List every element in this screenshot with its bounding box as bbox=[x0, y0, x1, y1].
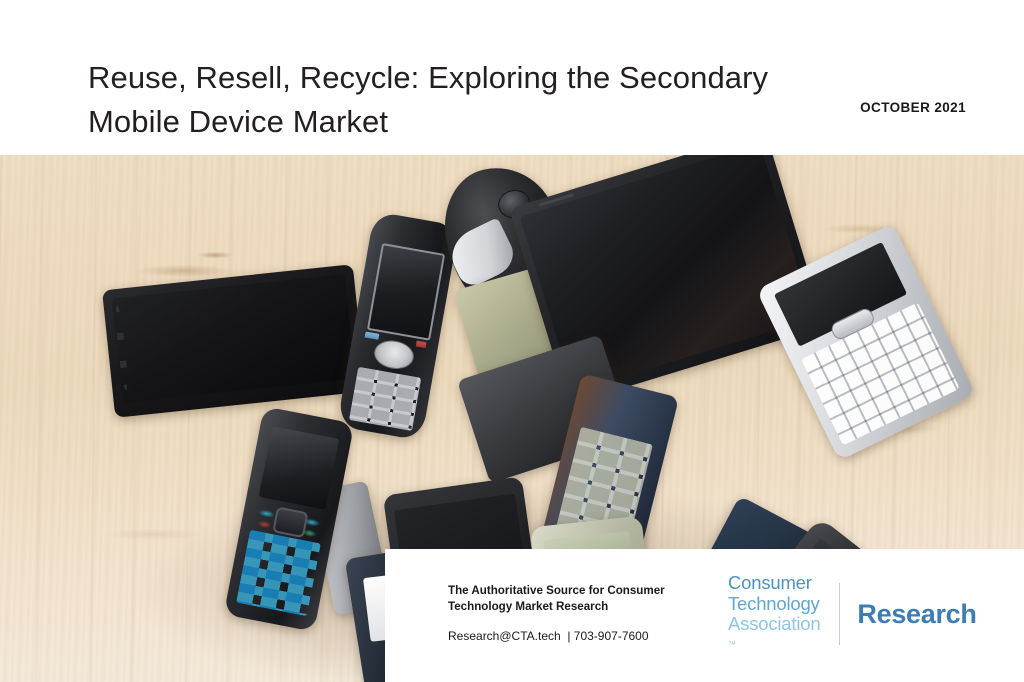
page-title: Reuse, Resell, Recycle: Exploring the Se… bbox=[88, 56, 788, 144]
cta-logo-line-3: Association™ bbox=[728, 614, 820, 655]
phone-keypad bbox=[349, 367, 421, 431]
footer-contact[interactable]: Research@CTA.tech | 703-907-7600 bbox=[448, 629, 649, 643]
phone-screen bbox=[259, 426, 339, 510]
cta-logo-line-1: Consumer bbox=[728, 573, 820, 594]
cta-wordmark: Consumer Technology Association™ bbox=[728, 573, 820, 655]
phone-navpad bbox=[272, 507, 308, 539]
research-wordmark: Research bbox=[857, 599, 976, 630]
cover-header: Reuse, Resell, Recycle: Exploring the Se… bbox=[0, 0, 1024, 155]
report-cover-page: Reuse, Resell, Recycle: Exploring the Se… bbox=[0, 0, 1024, 682]
cta-logo-line-3-text: Association bbox=[728, 614, 820, 635]
footer-tagline: The Authoritative Source for Consumer Te… bbox=[448, 583, 708, 615]
cta-research-logo: Consumer Technology Association™ Researc… bbox=[728, 578, 977, 650]
phone-black-slab-smartphone-left bbox=[102, 264, 366, 418]
phone-keypad bbox=[236, 530, 321, 616]
logo-divider bbox=[839, 583, 840, 645]
trademark-icon: ™ bbox=[728, 635, 820, 656]
footer-card: The Authoritative Source for Consumer Te… bbox=[385, 549, 1024, 682]
phone-screen bbox=[367, 243, 445, 341]
publication-date: OCTOBER 2021 bbox=[860, 100, 966, 115]
phone-screen bbox=[112, 274, 356, 403]
cta-logo-line-2: Technology bbox=[728, 594, 820, 615]
